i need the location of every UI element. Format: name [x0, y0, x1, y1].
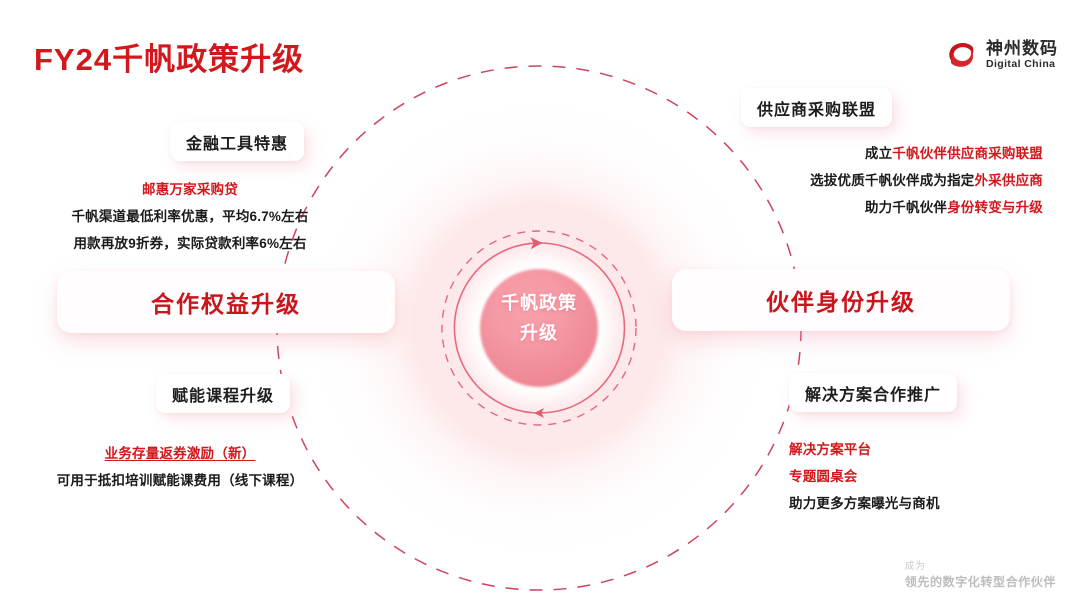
tag-supplier-alliance[interactable]: 供应商采购联盟	[741, 88, 892, 127]
brand-name-en: Digital China	[986, 59, 1058, 70]
tag-training-upgrade-label: 赋能课程升级	[172, 382, 274, 406]
spiral-logo-icon	[944, 38, 978, 72]
block-top-left-text: 邮惠万家采购贷 千帆渠道最低利率优惠，平均6.7%左右 用款再放9折券，实际贷款…	[18, 176, 362, 257]
top-right-line-1-red: 千帆伙伴供应商采购联盟	[892, 146, 1043, 161]
pillar-right[interactable]: 伙伴身份升级	[672, 269, 1010, 331]
top-right-line-3-black: 助力千帆伙伴	[865, 200, 947, 215]
block-top-right-text: 成立千帆伙伴供应商采购联盟 选拔优质千帆伙伴成为指定外采供应商 助力千帆伙伴身份…	[706, 140, 1043, 221]
pillar-left-label: 合作权益升级	[151, 285, 301, 319]
footer-line-1: 成为	[905, 560, 1056, 574]
pillar-left[interactable]: 合作权益升级	[57, 271, 395, 333]
slide-root: 千帆政策 升级 FY24千帆政策升级 神州数码 Digital China 合作…	[0, 0, 1080, 605]
footer-slogan: 成为 领先的数字化转型合作伙伴	[905, 560, 1056, 591]
top-right-line-2-red: 外采供应商	[975, 173, 1044, 188]
top-left-heading: 邮惠万家采购贷	[18, 176, 362, 203]
footer-line-2: 领先的数字化转型合作伙伴	[905, 574, 1056, 591]
brand-name-cn: 神州数码	[986, 40, 1058, 58]
tag-financial-tools-label: 金融工具特惠	[186, 130, 288, 154]
page-title: FY24千帆政策升级	[34, 34, 304, 79]
top-left-line-2: 用款再放9折券，实际贷款利率6%左右	[18, 230, 362, 257]
center-label-line1: 千帆政策	[456, 288, 622, 318]
block-bottom-right-text: 解决方案平台 专题圆桌会 助力更多方案曝光与商机	[789, 436, 1069, 517]
tag-financial-tools[interactable]: 金融工具特惠	[170, 122, 304, 161]
center-label-line2: 升级	[456, 318, 622, 348]
tag-solution-promotion-label: 解决方案合作推广	[805, 381, 941, 405]
block-bottom-left-text: 业务存量返券激励（新） 可用于抵扣培训赋能课费用（线下课程）	[8, 440, 352, 494]
bottom-right-line-1: 助力更多方案曝光与商机	[789, 490, 1069, 517]
top-left-line-1: 千帆渠道最低利率优惠，平均6.7%左右	[18, 203, 362, 230]
top-right-line-1: 成立千帆伙伴供应商采购联盟	[706, 140, 1043, 167]
bottom-right-heading-1: 解决方案平台	[789, 436, 1069, 463]
top-right-line-3: 助力千帆伙伴身份转变与升级	[706, 194, 1043, 221]
bottom-left-line-1: 可用于抵扣培训赋能课费用（线下课程）	[8, 467, 352, 494]
brand-logo: 神州数码 Digital China	[944, 38, 1058, 72]
bottom-right-heading-2: 专题圆桌会	[789, 463, 1069, 490]
tag-supplier-alliance-label: 供应商采购联盟	[757, 96, 876, 120]
center-label: 千帆政策 升级	[456, 288, 622, 348]
pillar-right-label: 伙伴身份升级	[766, 283, 916, 317]
top-right-line-3-red: 身份转变与升级	[947, 200, 1043, 215]
tag-training-upgrade[interactable]: 赋能课程升级	[156, 374, 290, 413]
top-right-line-2-black: 选拔优质千帆伙伴成为指定	[810, 173, 974, 188]
brand-logo-text: 神州数码 Digital China	[986, 40, 1058, 70]
top-right-line-1-black: 成立	[865, 146, 892, 161]
bottom-left-heading: 业务存量返券激励（新）	[8, 440, 352, 467]
top-right-line-2: 选拔优质千帆伙伴成为指定外采供应商	[706, 167, 1043, 194]
tag-solution-promotion[interactable]: 解决方案合作推广	[789, 373, 957, 412]
